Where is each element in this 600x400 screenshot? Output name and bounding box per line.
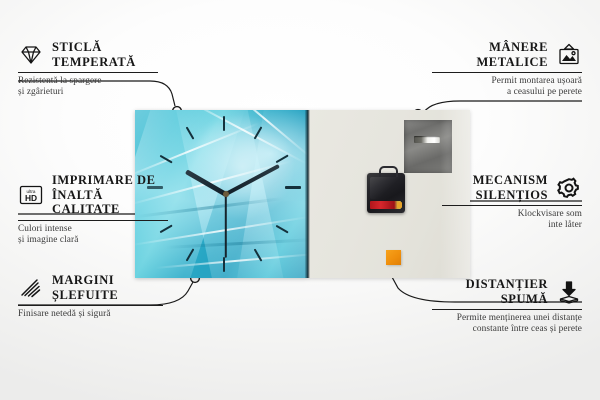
svg-text:HD: HD (25, 193, 37, 203)
callout-rule (18, 220, 168, 221)
callout-title: Sticlă Temperată (52, 40, 136, 69)
diamond-icon (18, 43, 44, 67)
callout-tempered-glass: Sticlă Temperată Rezistentă la spargere … (18, 40, 158, 98)
down-arrow-slab-icon (556, 280, 582, 304)
callout-rule (18, 72, 158, 73)
callout-subtitle: Klockvisare som inte låter (442, 209, 582, 231)
callout-high-quality-print: ultra HD Imprimare de Înaltă Calitate Cu… (18, 173, 168, 246)
callout-subtitle: Culori intense și imagine clară (18, 224, 168, 246)
infographic-canvas: Sticlă Temperată Rezistentă la spargere … (0, 0, 600, 400)
ultra-hd-badge-icon: ultra HD (18, 183, 44, 207)
callout-title: Mânere Metalice (476, 40, 548, 69)
callout-rule (18, 305, 163, 306)
battery-terminal (397, 202, 402, 208)
clock-tick (285, 186, 301, 189)
hanger-slot (414, 136, 440, 143)
callout-subtitle: Permite menținerea unei distanțe constan… (432, 313, 582, 335)
callout-subtitle: Rezistentă la spargere și zgârieturi (18, 76, 158, 98)
clock-center-cap (223, 191, 229, 197)
callout-silent-mechanism: Mecanism Silențios Klockvisare som inte … (442, 173, 582, 231)
wall-mount-frame-icon (556, 43, 582, 67)
callout-polished-edges: Margini Șlefuite Finisare netedă și sigu… (18, 273, 163, 320)
movement-hanging-loop (379, 166, 398, 177)
callout-title: Margini Șlefuite (52, 273, 118, 302)
clock-second-hand (225, 194, 227, 258)
callout-title: Distanțier Spumă (466, 277, 548, 306)
callout-rule (442, 205, 582, 206)
clock-movement (367, 173, 405, 213)
callout-foam-spacer: Distanțier Spumă Permite menținerea unei… (432, 277, 582, 335)
callout-subtitle: Finisare netedă și sigură (18, 309, 163, 320)
polished-edges-icon (18, 276, 44, 300)
callout-rule (432, 72, 582, 73)
callout-metal-handles: Mânere Metalice Permit montarea ușoară a… (432, 40, 582, 98)
foam-spacer (386, 250, 401, 265)
callout-rule (432, 309, 582, 310)
callout-title: Mecanism Silențios (473, 173, 548, 202)
movement-housing-gloss (370, 177, 400, 199)
callout-title: Imprimare de Înaltă Calitate (52, 173, 168, 217)
callout-subtitle: Permit montarea ușoară a ceasului pe per… (432, 76, 582, 98)
gear-icon (556, 176, 582, 200)
